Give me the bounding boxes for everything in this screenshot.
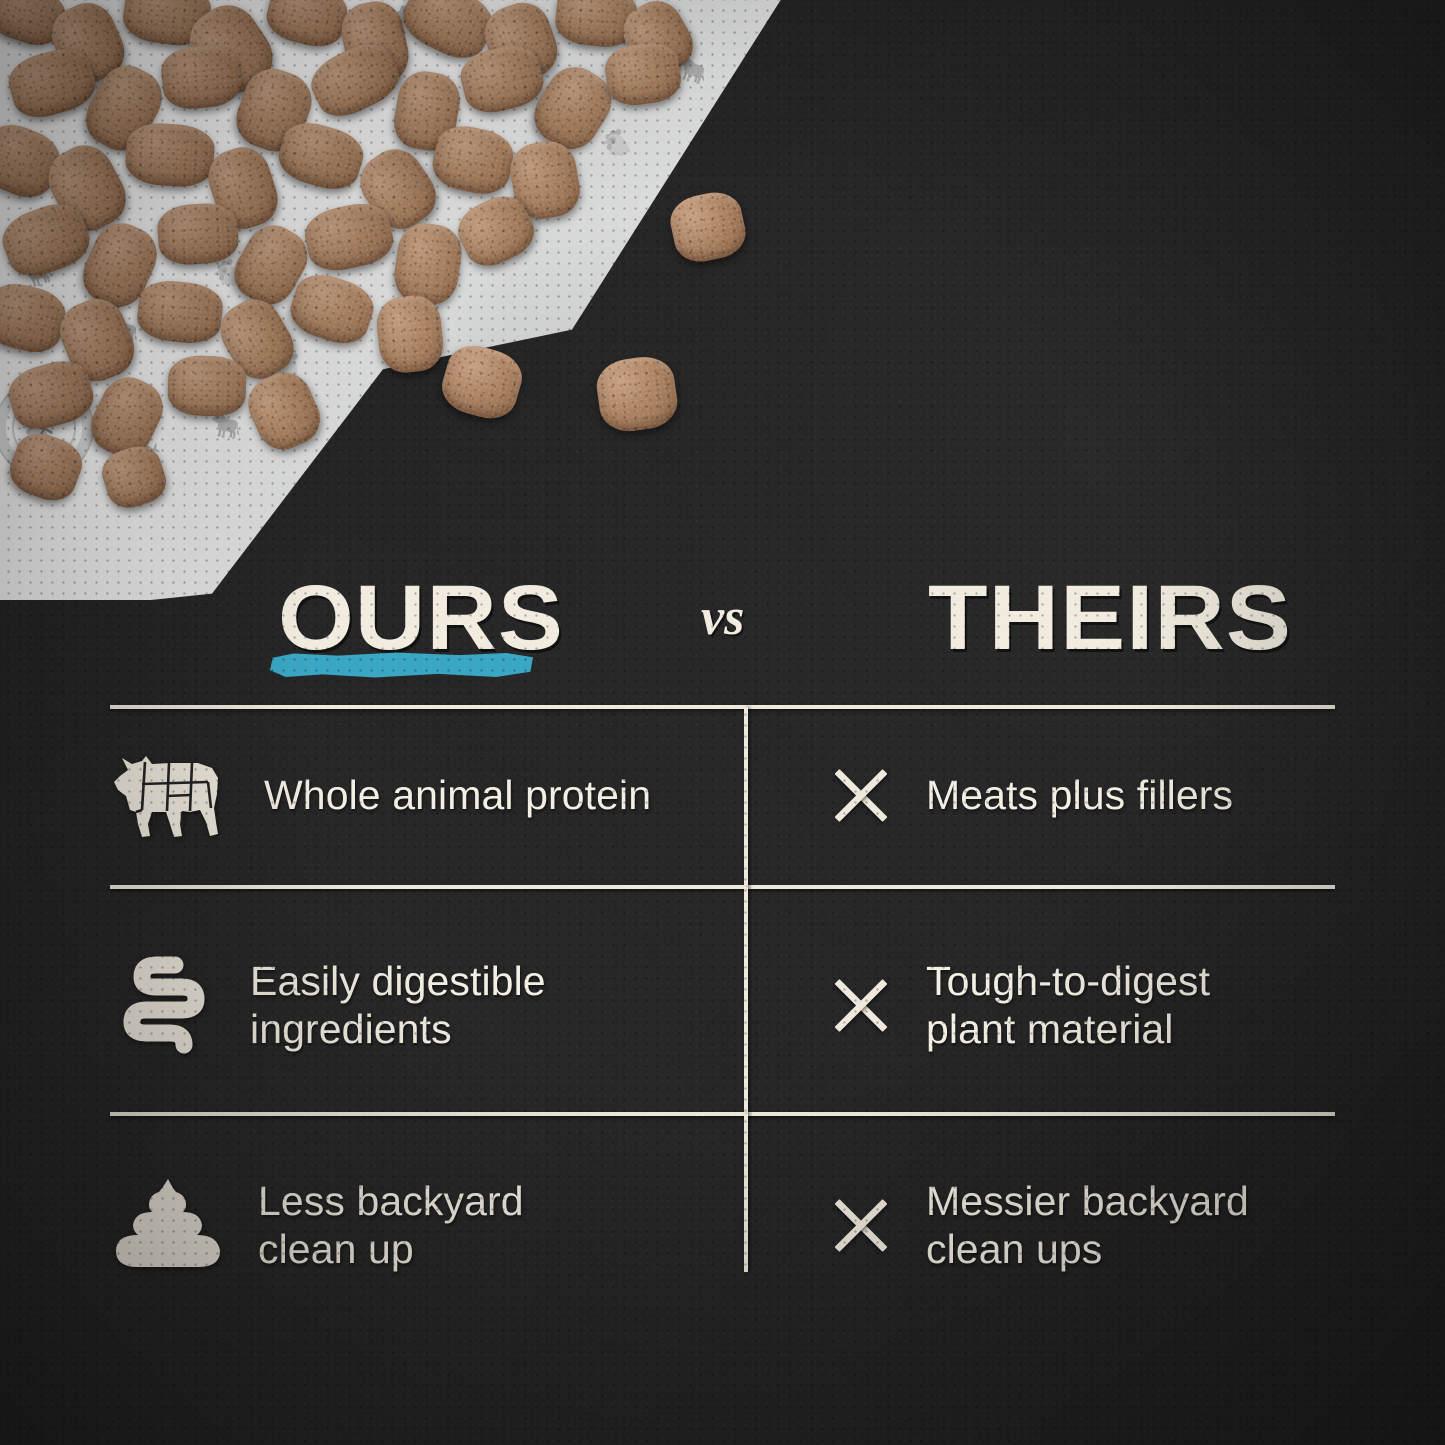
table-row: Less backyard clean up [112, 1155, 732, 1295]
x-mark-icon [830, 974, 892, 1036]
table-row: Whole animal protein [112, 730, 732, 860]
vs-label: vs [701, 588, 744, 647]
column-divider [744, 887, 748, 1114]
comparison-header: OURS vs THEIRS [110, 566, 1335, 691]
table-row: Messier backyard clean ups [830, 1155, 1350, 1295]
table-rule-middle-1 [110, 885, 1335, 889]
theirs-heading: THEIRS [928, 566, 1292, 671]
table-rule-middle-2 [110, 1112, 1335, 1116]
cow-butcher-chart-icon [112, 748, 230, 842]
product-comparison-infographic: 🐂 🐂 🐔 🐔 🐔 🐟 🐂 🐂 🐂 🐔 🐔 🐟 🐔 🐂 ⚒ [0, 0, 1445, 1445]
table-rule-top [110, 705, 1335, 709]
ours-underline-brushstroke [270, 652, 533, 678]
table-row: Meats plus fillers [830, 730, 1350, 860]
column-divider [744, 707, 748, 887]
comparison-table: OURS vs THEIRS [0, 0, 1445, 1445]
row-label: Whole animal protein [264, 771, 651, 819]
column-divider [744, 1114, 748, 1272]
row-label: Easily digestible ingredients [250, 957, 546, 1054]
x-mark-icon [830, 764, 892, 826]
x-mark-icon [830, 1194, 892, 1256]
poop-icon [112, 1177, 224, 1273]
row-label: Tough-to-digest plant material [926, 957, 1210, 1054]
row-label: Less backyard clean up [258, 1177, 524, 1274]
row-label: Messier backyard clean ups [926, 1177, 1249, 1274]
table-row: Easily digestible ingredients [112, 930, 732, 1080]
table-row: Tough-to-digest plant material [830, 930, 1350, 1080]
row-label: Meats plus fillers [926, 771, 1233, 819]
intestine-digestion-icon [112, 953, 216, 1057]
